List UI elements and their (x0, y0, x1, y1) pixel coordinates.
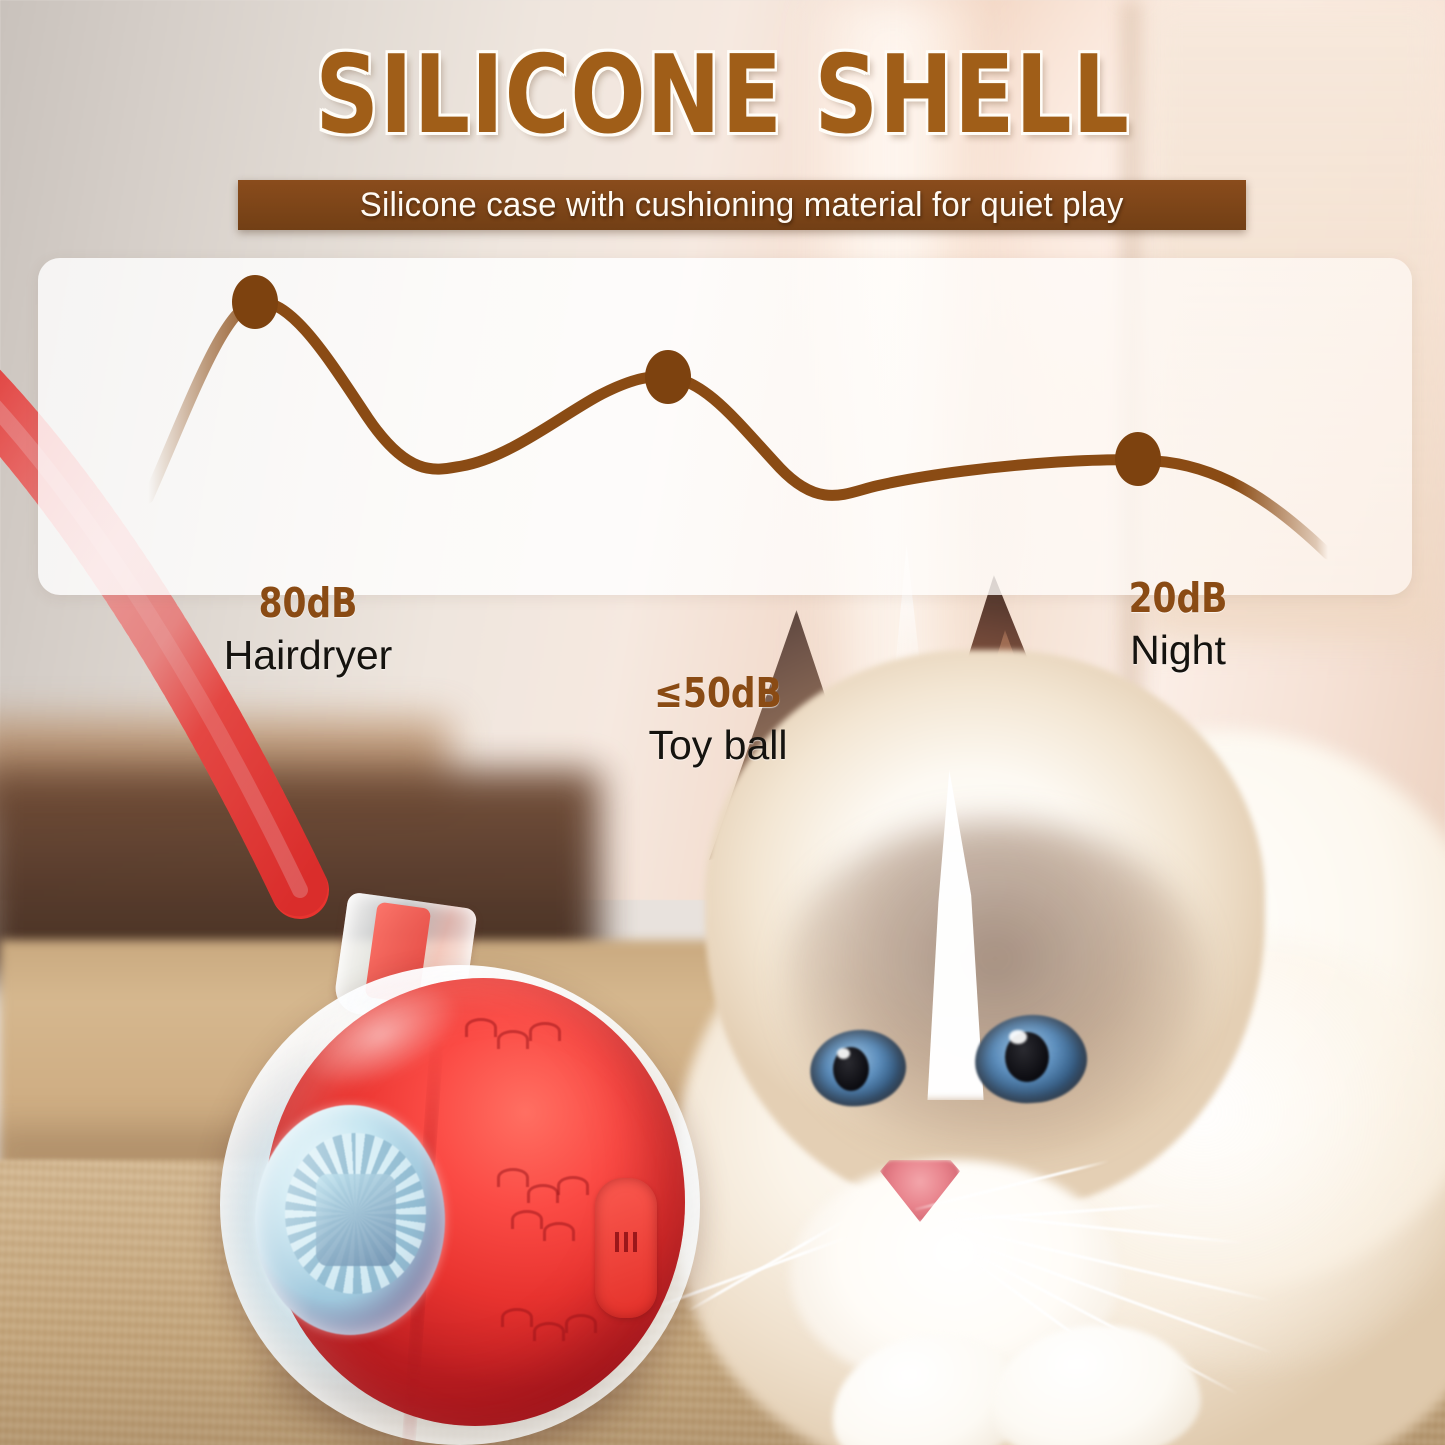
subtitle-banner: Silicone case with cushioning material f… (238, 180, 1246, 230)
ball-texture-mark (565, 1314, 597, 1333)
ball-button-icon (615, 1232, 637, 1252)
ball-texture-mark (543, 1222, 575, 1241)
ball-texture-mark (465, 1018, 497, 1037)
chart-label-hairdryer: 80dB Hairdryer (163, 583, 453, 681)
wave-node-hairdryer (232, 275, 278, 329)
page-title: SILICONE SHELL (130, 38, 1315, 155)
cat-eye-glint-left (837, 1048, 850, 1059)
ball-texture-mark (529, 1022, 561, 1041)
ball-texture-mark (527, 1184, 559, 1203)
chart-label-toyball: ≤50dB Toy ball (583, 673, 853, 771)
wave-node-toyball (645, 350, 691, 404)
product-infographic: SILICONE SHELL Silicone case with cushio… (0, 0, 1445, 1445)
cat-eye-glint-right (1009, 1030, 1027, 1044)
wave-node-night (1115, 432, 1161, 486)
ball-texture-mark (557, 1176, 589, 1195)
ball-texture-mark (533, 1322, 565, 1341)
ball-lens-shine (255, 1105, 415, 1335)
chart-value-toyball: ≤50dB (605, 673, 832, 714)
ball-texture-mark (497, 1030, 529, 1049)
chart-name-hairdryer: Hairdryer (163, 630, 453, 681)
subtitle-text: Silicone case with cushioning material f… (360, 186, 1124, 225)
ball-texture-mark (497, 1168, 529, 1187)
cat-photo (615, 520, 1445, 1445)
noise-wave-chart (38, 258, 1412, 595)
ball-power-button[interactable] (595, 1178, 657, 1318)
chart-name-night: Night (1048, 625, 1308, 676)
chart-value-hairdryer: 80dB (186, 583, 430, 624)
chart-label-night: 20dB Night (1048, 578, 1308, 676)
chart-value-night: 20dB (1069, 578, 1287, 619)
ball-internal-mechanism (255, 1105, 445, 1335)
chart-name-toyball: Toy ball (583, 720, 853, 771)
cat-toy-ball (205, 930, 725, 1445)
ball-texture-mark (511, 1210, 543, 1229)
noise-comparison-panel: 80dB Hairdryer ≤50dB Toy ball 20dB Night (38, 258, 1412, 595)
ball-texture-mark (501, 1308, 533, 1327)
